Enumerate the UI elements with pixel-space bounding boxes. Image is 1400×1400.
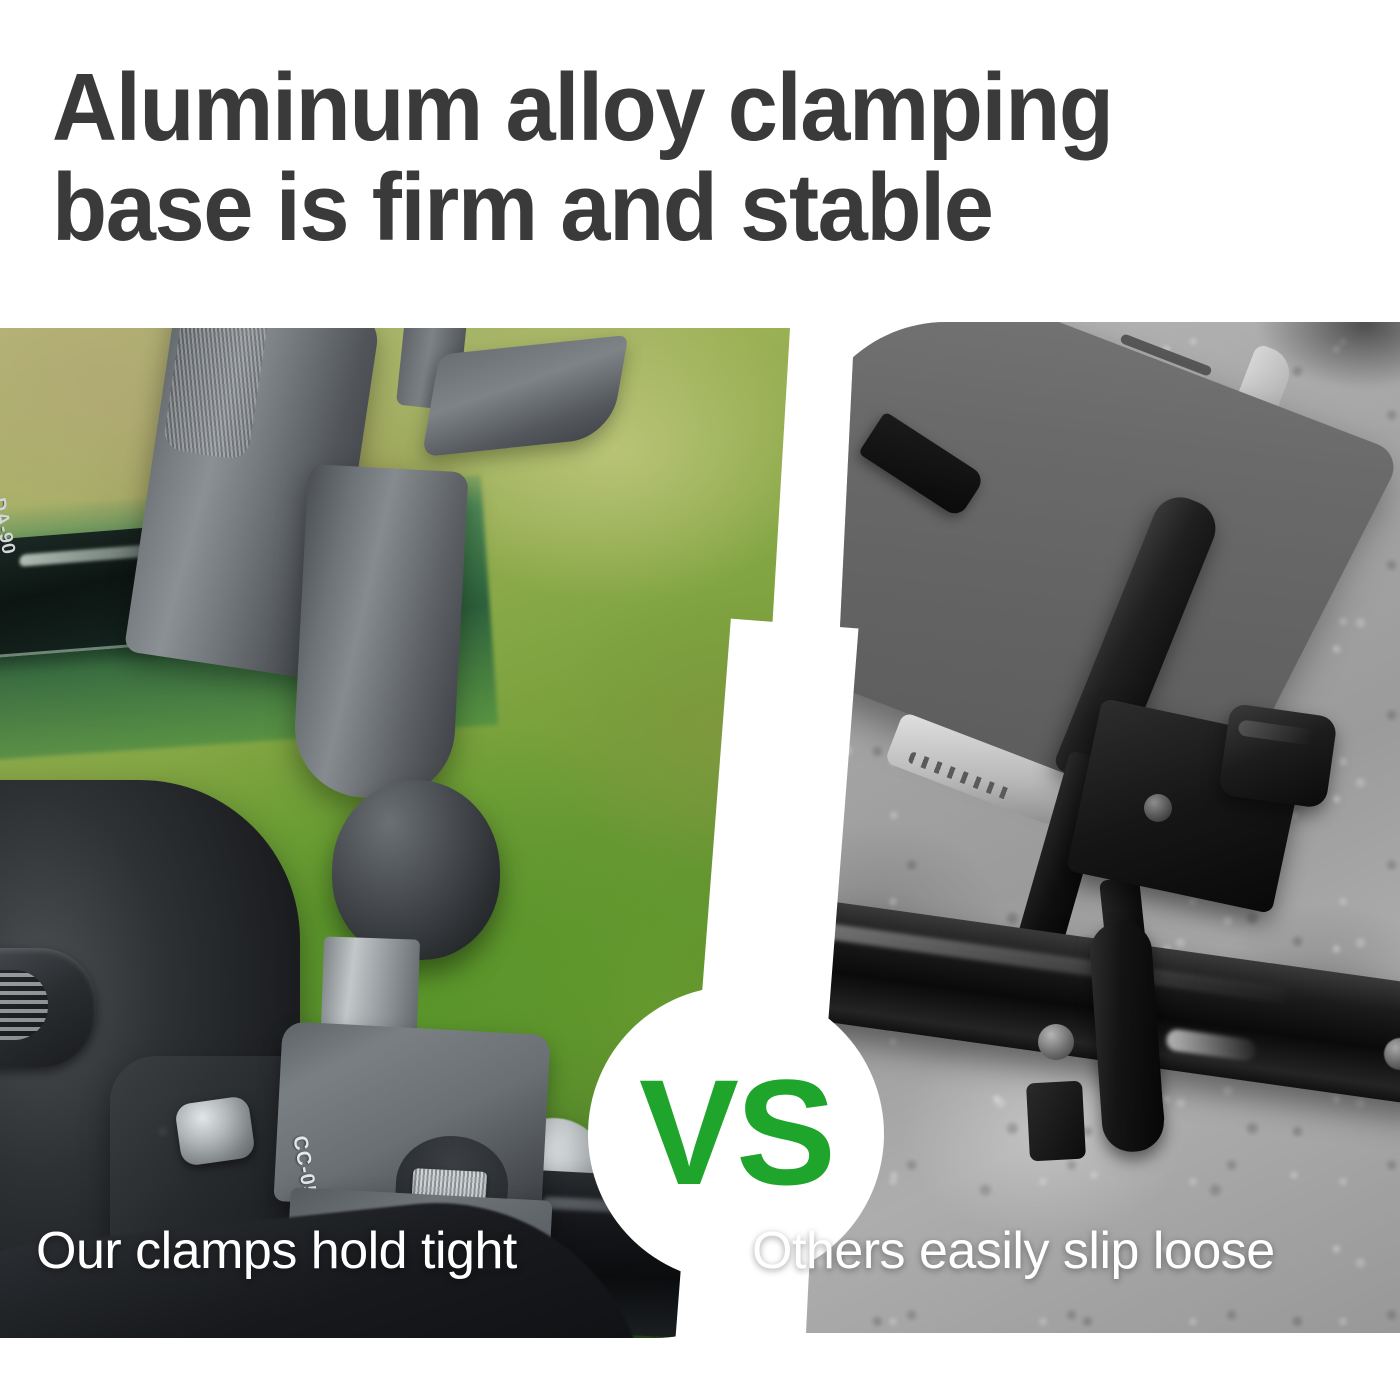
perch-bolt-top: [174, 1095, 256, 1167]
clamp-ring-tail: [1026, 1081, 1086, 1162]
clamp-ring-bolt: [1038, 1024, 1074, 1060]
mount-arm-lower: [291, 464, 468, 802]
page-title: Aluminum alloy clamping base is firm and…: [52, 58, 1274, 258]
holder-plate-screw: [1144, 794, 1172, 822]
left-panel-caption: Our clamps hold tight: [36, 1222, 517, 1280]
adjustment-knob: [1218, 703, 1338, 809]
comparison-panels: R UP DA-90 1" Ball Components CC-05: [0, 322, 1400, 1336]
ball-joint: [332, 780, 500, 960]
product-comparison-infographic: Aluminum alloy clamping base is firm and…: [0, 0, 1400, 1400]
right-panel-caption: Others easily slip loose: [752, 1222, 1275, 1280]
right-comparison-panel: [806, 322, 1400, 1333]
arm-knurl-texture: [162, 328, 269, 461]
vs-badge-label: VS: [639, 1057, 833, 1207]
